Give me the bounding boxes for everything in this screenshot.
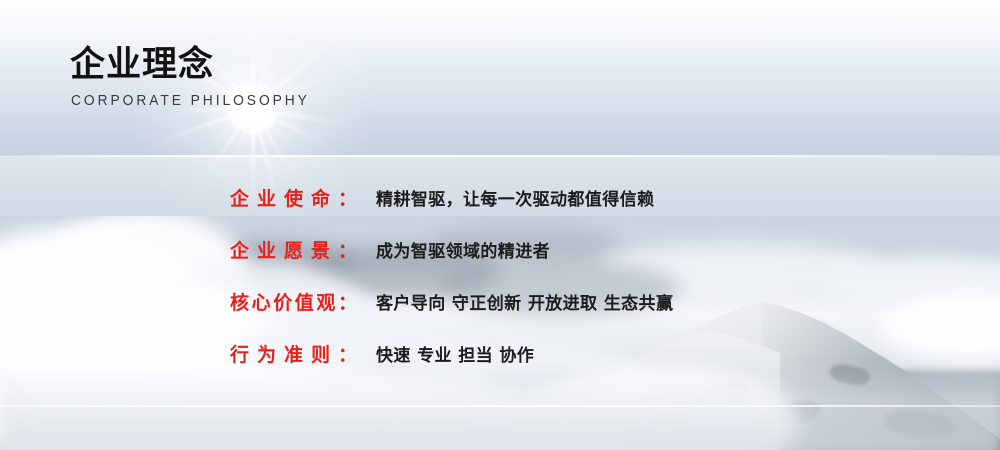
philosophy-label-mission: 企业使命：	[230, 186, 357, 212]
label-text: 核心价值观	[230, 292, 338, 314]
philosophy-row-core-values: 核心价值观： 客户导向 守正创新 开放进取 生态共赢	[230, 290, 970, 342]
philosophy-row-mission: 企业使命： 精耕智驱，让每一次驱动都值得信赖	[230, 186, 970, 238]
philosophy-label-code-of-conduct: 行为准则：	[230, 342, 357, 368]
label-text: 行为准则	[230, 344, 338, 366]
label-colon: ：	[338, 292, 357, 314]
page-title-block: 企业理念 CORPORATE PHILOSOPHY	[70, 44, 490, 110]
label-colon: ：	[338, 240, 357, 262]
page-subtitle: CORPORATE PHILOSOPHY	[71, 92, 456, 110]
philosophy-label-vision: 企业愿景：	[230, 238, 357, 264]
philosophy-row-code-of-conduct: 行为准则： 快速 专业 担当 协作	[230, 342, 970, 394]
label-colon: ：	[338, 188, 357, 210]
corporate-philosophy-banner: 企业理念 CORPORATE PHILOSOPHY 企业使命： 精耕智驱，让每一…	[0, 0, 1000, 450]
philosophy-label-core-values: 核心价值观：	[230, 290, 357, 316]
page-title: 企业理念	[70, 44, 490, 86]
philosophy-row-vision: 企业愿景： 成为智驱领域的精进者	[230, 238, 970, 290]
philosophy-value-mission: 精耕智驱，让每一次驱动都值得信赖	[376, 187, 654, 213]
philosophy-list: 企业使命： 精耕智驱，让每一次驱动都值得信赖 企业愿景： 成为智驱领域的精进者 …	[230, 186, 970, 394]
philosophy-value-vision: 成为智驱领域的精进者	[376, 239, 550, 265]
philosophy-value-core-values: 客户导向 守正创新 开放进取 生态共赢	[376, 291, 673, 317]
label-colon: ：	[338, 344, 357, 366]
label-text: 企业愿景	[230, 240, 338, 262]
bottom-divider-line	[0, 405, 1000, 407]
philosophy-value-code-of-conduct: 快速 专业 担当 协作	[376, 343, 534, 369]
label-text: 企业使命	[230, 188, 338, 210]
